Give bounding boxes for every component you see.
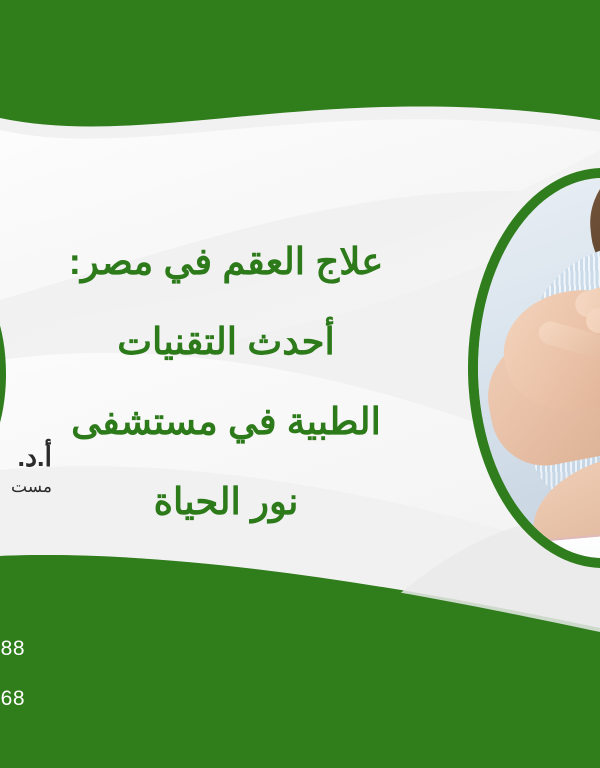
promo-poster: علاج العقم في مصر: أحدث التقنيات الطبية … bbox=[0, 0, 600, 768]
phone-number[interactable]: -780-8088 bbox=[0, 636, 25, 662]
contact-section: act Us -780-8088 -990-7768 bbox=[0, 572, 222, 712]
contact-heading: act Us bbox=[0, 572, 222, 612]
headline-line-2: أحدث التقنيات bbox=[0, 302, 452, 382]
contact-whatsapp-row[interactable]: -990-7768 bbox=[0, 686, 222, 712]
whatsapp-number[interactable]: -990-7768 bbox=[0, 686, 25, 712]
doctor-role: مست bbox=[0, 474, 52, 500]
headline-line-3: الطبية في مستشفى bbox=[0, 382, 452, 462]
page-title: علاج العقم في مصر: أحدث التقنيات الطبية … bbox=[0, 222, 452, 542]
doctor-credit: أ.د. مست bbox=[0, 440, 52, 500]
contact-phone-row[interactable]: -780-8088 bbox=[0, 636, 222, 662]
doctor-name: أ.د. bbox=[0, 440, 52, 474]
clinician-photo bbox=[468, 168, 600, 568]
clinician-photo-inner bbox=[478, 178, 600, 558]
headline-line-4: نور الحياة bbox=[0, 462, 452, 542]
headline-line-1: علاج العقم في مصر: bbox=[0, 222, 452, 302]
